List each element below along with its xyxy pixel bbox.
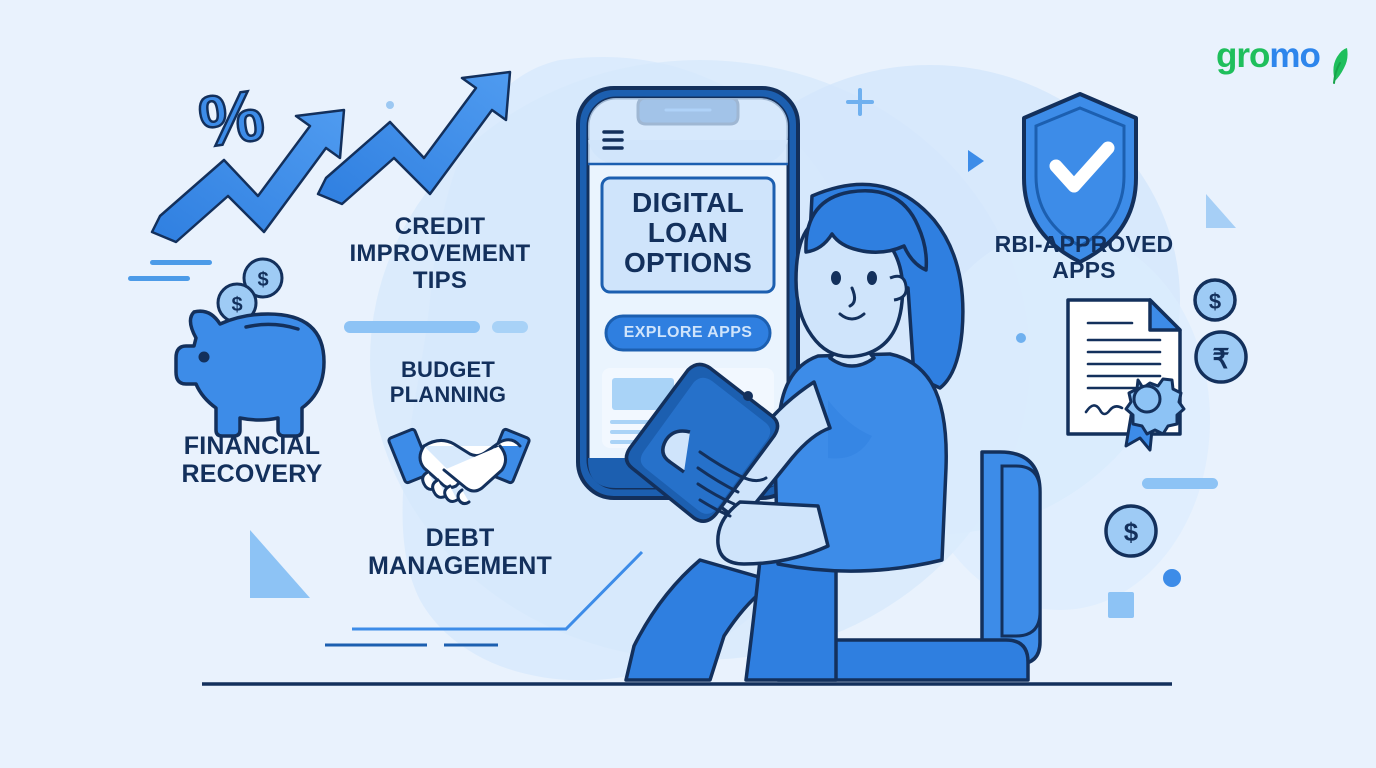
logo-text-mo: mo <box>1269 36 1320 75</box>
svg-text:%: % <box>194 75 269 163</box>
svg-text:$: $ <box>231 294 242 316</box>
svg-text:$: $ <box>257 269 268 291</box>
dot-decoration-icon <box>1016 333 1026 343</box>
phone-camera <box>743 391 753 401</box>
phone-headline: DIGITAL LOAN OPTIONS <box>600 188 776 279</box>
coin-dollar-icon: $ <box>1195 280 1235 320</box>
eye <box>867 271 877 285</box>
svg-text:₹: ₹ <box>1212 344 1229 374</box>
eye <box>831 271 841 285</box>
illustration-svg: % $ $ <box>0 0 1376 768</box>
svg-text:$: $ <box>1124 517 1139 547</box>
dot-decoration-icon <box>1163 569 1181 587</box>
dot-decoration-icon <box>386 101 394 109</box>
label-financial-recovery: FINANCIAL RECOVERY <box>152 432 352 488</box>
label-debt-management: DEBT MANAGEMENT <box>348 524 572 580</box>
progress-bar-icon <box>344 321 480 333</box>
pill-decoration <box>1142 478 1218 489</box>
gromo-logo[interactable]: gromo <box>1216 38 1346 73</box>
progress-bar-segment <box>492 321 528 333</box>
line-decoration <box>150 260 212 265</box>
label-budget-planning: BUDGET PLANNING <box>360 358 536 407</box>
coin-dollar-icon: $ <box>1106 506 1156 556</box>
svg-text:$: $ <box>1209 289 1221 314</box>
explore-apps-button-label[interactable]: EXPLORE APPS <box>608 320 768 346</box>
coin-rupee-icon: ₹ <box>1196 332 1246 382</box>
label-credit-improvement-tips: CREDIT IMPROVEMENT TIPS <box>332 214 548 295</box>
illustration-canvas: % $ $ <box>0 0 1376 768</box>
line-decoration <box>128 276 190 281</box>
percent-symbol-icon: % <box>194 75 269 163</box>
square-decoration-icon <box>1108 592 1134 618</box>
label-rbi-approved-apps: RBI-APPROVED APPS <box>978 232 1190 284</box>
logo-text-gro: gro <box>1216 36 1269 75</box>
certificate-document-icon <box>1068 300 1184 450</box>
